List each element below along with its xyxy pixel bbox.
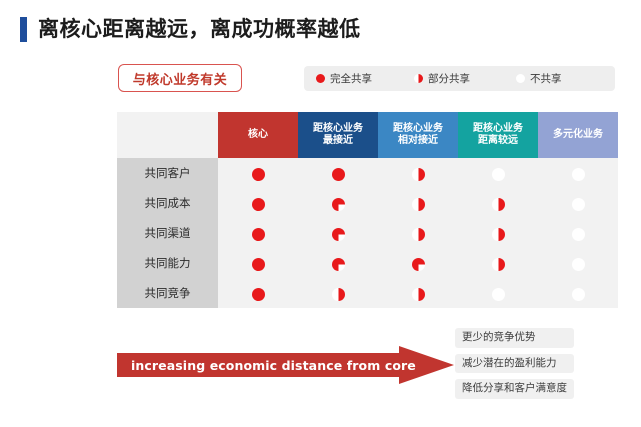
page-title-row: 离核心距离越远，离成功概率越低	[20, 17, 361, 42]
partial-circle-icon	[492, 228, 505, 241]
legend-label-partial: 部分共享	[428, 71, 470, 86]
matrix-cell	[458, 218, 538, 248]
matrix-cell	[378, 218, 458, 248]
empty-circle-icon	[492, 288, 505, 301]
row-label: 共同竞争	[117, 278, 218, 308]
legend-item-full: 完全共享	[316, 71, 372, 86]
row-label: 共同客户	[117, 158, 218, 188]
full-circle-icon	[252, 228, 265, 241]
partial-circle-icon	[332, 288, 345, 301]
matrix-cell	[538, 278, 618, 308]
matrix-cell	[378, 278, 458, 308]
partial-circle-icon	[492, 198, 505, 211]
table-corner-cell	[117, 112, 218, 158]
full-circle-icon	[252, 168, 265, 181]
matrix-cell	[458, 278, 538, 308]
matrix-cell	[298, 248, 378, 278]
full-circle-icon	[252, 288, 265, 301]
empty-circle-icon	[572, 258, 585, 271]
matrix-cell	[458, 248, 538, 278]
sharing-matrix-table: 核心 距核心业务 最接近 距核心业务 相对接近 距核心业务 距离较远 多元化业务…	[117, 112, 618, 308]
matrix-cell	[298, 158, 378, 188]
table-header-core: 核心	[218, 112, 298, 158]
header-line2: 相对接近	[378, 135, 458, 148]
partial-circle-icon	[332, 198, 345, 211]
matrix-cell	[298, 218, 378, 248]
empty-circle-icon	[516, 74, 525, 83]
partial-circle-icon	[332, 228, 345, 241]
table-row: 共同渠道	[117, 218, 618, 248]
legend-item-none: 不共享	[516, 71, 562, 86]
matrix-cell	[218, 278, 298, 308]
empty-circle-icon	[572, 198, 585, 211]
header-line1: 距核心业务	[298, 123, 378, 136]
partial-circle-icon	[332, 258, 345, 271]
matrix-cell	[458, 158, 538, 188]
row-label: 共同能力	[117, 248, 218, 278]
partial-circle-icon	[412, 258, 425, 271]
matrix-cell	[378, 158, 458, 188]
page-title: 离核心距离越远，离成功概率越低	[38, 19, 361, 40]
legend-label-full: 完全共享	[330, 71, 372, 86]
matrix-cell	[538, 248, 618, 278]
table-row: 共同竞争	[117, 278, 618, 308]
table-header-relatively-close: 距核心业务 相对接近	[378, 112, 458, 158]
table-row: 共同客户	[117, 158, 618, 188]
legend: 完全共享 部分共享 不共享	[304, 66, 615, 91]
header-line2: 距离较远	[458, 135, 538, 148]
matrix-cell	[298, 188, 378, 218]
matrix-cell	[378, 188, 458, 218]
matrix-cell	[218, 188, 298, 218]
table-header-diversified: 多元化业务	[538, 112, 618, 158]
matrix-cell	[378, 248, 458, 278]
partial-circle-icon	[492, 258, 505, 271]
row-label: 共同成本	[117, 188, 218, 218]
outcome-list: 更少的竞争优势减少潜在的盈利能力降低分享和客户满意度	[455, 328, 574, 399]
matrix-cell	[218, 248, 298, 278]
legend-label-none: 不共享	[530, 71, 562, 86]
outcome-item: 更少的竞争优势	[455, 328, 574, 348]
matrix-cell	[218, 218, 298, 248]
partial-circle-icon	[412, 228, 425, 241]
table-header-closest: 距核心业务 最接近	[298, 112, 378, 158]
table-header-far: 距核心业务 距离较远	[458, 112, 538, 158]
table-header-row: 核心 距核心业务 最接近 距核心业务 相对接近 距核心业务 距离较远 多元化业务	[117, 112, 618, 158]
partial-circle-icon	[412, 168, 425, 181]
matrix-cell	[538, 158, 618, 188]
matrix-cell	[538, 188, 618, 218]
table-row: 共同成本	[117, 188, 618, 218]
half-circle-icon	[414, 74, 423, 83]
arrow-label: increasing economic distance from core	[131, 346, 416, 384]
header-line1: 距核心业务	[458, 123, 538, 136]
empty-circle-icon	[572, 288, 585, 301]
title-accent-bar	[20, 17, 27, 42]
row-label: 共同渠道	[117, 218, 218, 248]
full-circle-icon	[252, 258, 265, 271]
header-line1: 距核心业务	[378, 123, 458, 136]
empty-circle-icon	[572, 168, 585, 181]
empty-circle-icon	[492, 168, 505, 181]
economic-distance-arrow: increasing economic distance from core	[117, 346, 454, 384]
core-business-badge[interactable]: 与核心业务有关	[118, 64, 242, 92]
matrix-cell	[458, 188, 538, 218]
table-body: 共同客户共同成本共同渠道共同能力共同竞争	[117, 158, 618, 308]
matrix-cell	[538, 218, 618, 248]
legend-item-partial: 部分共享	[414, 71, 470, 86]
matrix-cell	[298, 278, 378, 308]
header-line1: 核心	[218, 129, 298, 142]
header-line1: 多元化业务	[538, 129, 618, 142]
header-line2: 最接近	[298, 135, 378, 148]
partial-circle-icon	[412, 288, 425, 301]
empty-circle-icon	[572, 228, 585, 241]
table-row: 共同能力	[117, 248, 618, 278]
matrix-cell	[218, 158, 298, 188]
outcome-item: 降低分享和客户满意度	[455, 379, 574, 399]
full-circle-icon	[252, 198, 265, 211]
full-circle-icon	[316, 74, 325, 83]
full-circle-icon	[332, 168, 345, 181]
partial-circle-icon	[412, 198, 425, 211]
outcome-item: 减少潜在的盈利能力	[455, 354, 574, 374]
